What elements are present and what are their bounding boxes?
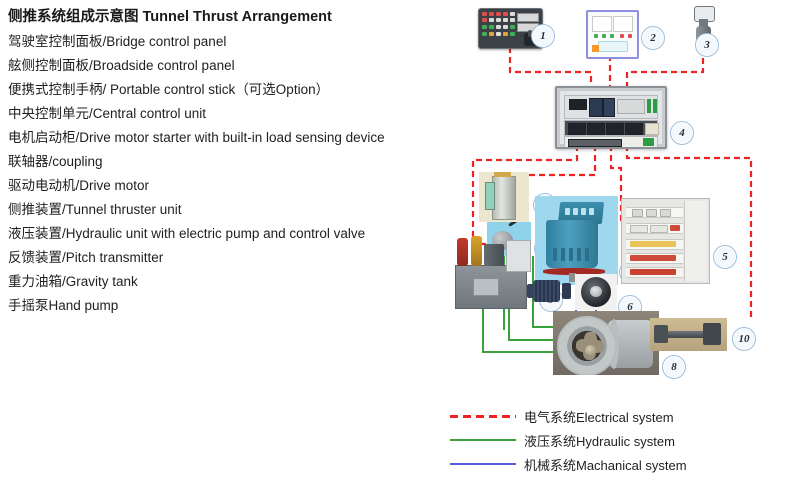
drive-motor-starter[interactable] bbox=[621, 198, 710, 284]
spec-item-6: 联轴器/coupling bbox=[8, 150, 458, 174]
coupling-bore bbox=[590, 286, 602, 297]
control-valve-box bbox=[506, 240, 531, 272]
system-diagram: 1 2 3 bbox=[455, 0, 788, 400]
button-row[interactable] bbox=[598, 41, 628, 52]
display-right bbox=[613, 16, 633, 32]
mechanical-line-swatch bbox=[450, 463, 516, 465]
electrical-line-swatch bbox=[450, 415, 516, 418]
legend-item-mechanical: 机械系统Machanical system bbox=[450, 452, 687, 476]
spec-item-2: 舷侧控制面板/Broadside control panel bbox=[8, 54, 458, 78]
propeller-hub bbox=[585, 345, 596, 356]
legend-label-electrical: 电气系统Electrical system bbox=[524, 407, 674, 426]
spec-item-9: 液压装置/Hydraulic unit with electric pump a… bbox=[8, 222, 458, 246]
spec-item-3: 便携式控制手柄/ Portable control stick（可选Option… bbox=[8, 78, 458, 102]
badge-1: 1 bbox=[531, 24, 555, 48]
tunnel-thruster-unit[interactable] bbox=[535, 196, 618, 285]
legend-label-mechanical: 机械系统Machanical system bbox=[524, 455, 687, 474]
coupling[interactable] bbox=[575, 274, 617, 310]
transmitter-sensor bbox=[703, 323, 721, 345]
display-left bbox=[592, 16, 612, 32]
hydraulic-unit[interactable] bbox=[451, 230, 536, 307]
badge-4: 4 bbox=[670, 121, 694, 145]
pitch-transmitter[interactable] bbox=[650, 318, 727, 351]
display-upper bbox=[517, 13, 539, 22]
filter-red-icon bbox=[457, 238, 468, 266]
spec-item-11: 重力油箱/Gravity tank bbox=[8, 270, 458, 294]
transmitter-mount-left bbox=[654, 325, 668, 343]
spec-item-5: 电机启动柜/Drive motor starter with built-in … bbox=[8, 126, 458, 150]
spec-item-4: 中央控制单元/Central control unit bbox=[8, 102, 458, 126]
tank-body bbox=[492, 176, 516, 220]
cabinet-door[interactable] bbox=[684, 201, 707, 281]
broadside-control-panel[interactable] bbox=[586, 10, 639, 59]
filter-yellow-icon bbox=[471, 236, 482, 266]
badge-10: 10 bbox=[732, 327, 756, 351]
page-root: 侧推系统组成示意图 Tunnel Thrust Arrangement 驾驶室控… bbox=[0, 0, 788, 490]
spec-item-7: 驱动电动机/Drive motor bbox=[8, 174, 458, 198]
tank-cap bbox=[494, 172, 511, 177]
badge-3: 3 bbox=[695, 33, 719, 57]
power-indicator-icon bbox=[592, 45, 599, 52]
spec-item-10: 反馈装置/Pitch transmitter bbox=[8, 246, 458, 270]
badge-5: 5 bbox=[713, 245, 737, 269]
spec-item-8: 侧推装置/Tunnel thruster unit bbox=[8, 198, 458, 222]
page-title: 侧推系统组成示意图 Tunnel Thrust Arrangement bbox=[8, 6, 458, 28]
level-gauge-icon bbox=[485, 182, 495, 210]
specification-list: 侧推系统组成示意图 Tunnel Thrust Arrangement 驾驶室控… bbox=[8, 6, 458, 318]
keypad-icon bbox=[482, 12, 516, 38]
drive-motor[interactable] bbox=[527, 277, 571, 305]
spec-item-12: 手摇泵Hand pump bbox=[8, 294, 458, 318]
legend-item-electrical: 电气系统Electrical system bbox=[450, 404, 687, 428]
nameplate bbox=[473, 278, 499, 296]
pump-lever-icon[interactable] bbox=[508, 222, 524, 227]
legend-label-hydraulic: 液压系统Hydraulic system bbox=[524, 431, 675, 450]
gravity-tank[interactable] bbox=[479, 172, 529, 222]
legend: 电气系统Electrical system 液压系统Hydraulic syst… bbox=[450, 404, 687, 476]
spec-item-1: 驾驶室控制面板/Bridge control panel bbox=[8, 30, 458, 54]
thruster-assembly[interactable] bbox=[553, 311, 659, 375]
badge-8: 8 bbox=[662, 355, 686, 379]
hydraulic-line-swatch bbox=[450, 439, 516, 441]
badge-2: 2 bbox=[641, 26, 665, 50]
propeller-duct bbox=[557, 316, 617, 375]
electric-pump-motor bbox=[484, 244, 504, 266]
legend-item-hydraulic: 液压系统Hydraulic system bbox=[450, 428, 687, 452]
central-control-unit[interactable] bbox=[555, 86, 667, 149]
